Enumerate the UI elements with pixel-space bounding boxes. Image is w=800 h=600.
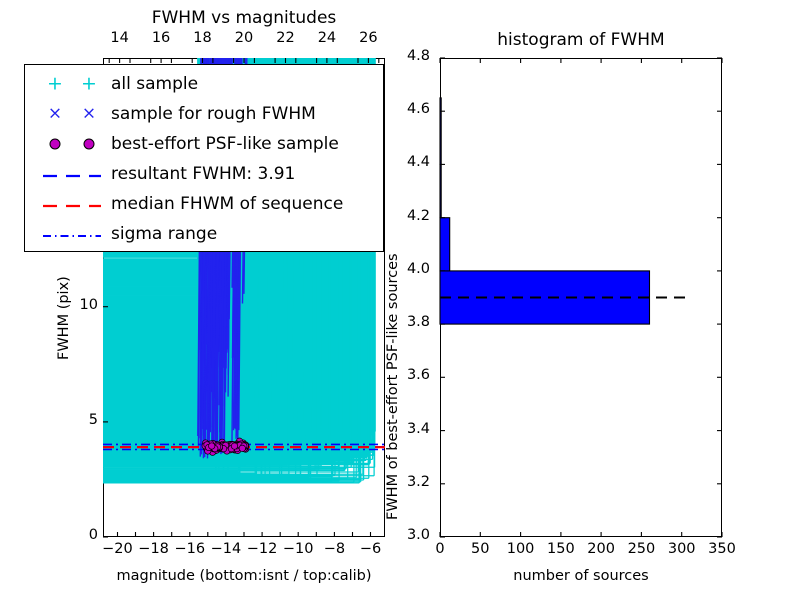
legend-item-label: sigma range: [111, 226, 217, 243]
legend-item-label: resultant FWHM: 3.91: [111, 166, 295, 183]
scatter-xlabel: magnitude (bottom:isnt / top:calib): [63, 568, 425, 584]
legend-item-label: sample for rough FWHM: [111, 106, 316, 123]
x-ticks-right-label: 350: [702, 541, 742, 557]
circle-marker-glyph: [84, 139, 95, 150]
scatter-ylabel: FWHM (pix): [56, 276, 72, 360]
bottom-ticks-label: −14: [206, 541, 246, 557]
histogram-ylabel: FWHM of best-effort PSF-like sources: [385, 253, 401, 520]
plus-marker-glyph: +: [47, 75, 63, 94]
legend-item-label: all sample: [111, 76, 198, 93]
legend-item[interactable]: ××sample for rough FWHM: [33, 99, 316, 129]
histogram-xlabel: number of sources: [440, 568, 722, 584]
x-ticks-right-label: 100: [501, 541, 541, 557]
y-ticks-right-label: 4.4: [390, 154, 430, 170]
bottom-ticks-label: −6: [351, 541, 391, 557]
cross-marker: ××: [33, 99, 111, 129]
plus-marker: ++: [33, 69, 111, 99]
legend-item[interactable]: best-effort PSF-like sample: [33, 129, 339, 159]
y-ticks-left-label: 0: [58, 527, 98, 543]
bottom-ticks-label: −20: [97, 541, 137, 557]
y-ticks-left-label: 5: [58, 412, 98, 428]
circle-marker-glyph: [50, 139, 61, 150]
legend-item-label: median FHWM of sequence: [111, 196, 343, 213]
y-ticks-right-label: 4.2: [390, 208, 430, 224]
dashed-line: [33, 159, 111, 189]
x-ticks-right-label: 0: [420, 541, 460, 557]
y-ticks-right-label: 4.8: [390, 48, 430, 64]
histogram-panel: histogram of FWHM 3.03.23.43.63.84.04.24…: [400, 0, 800, 600]
bottom-ticks-label: −12: [242, 541, 282, 557]
x-ticks-right-label: 200: [581, 541, 621, 557]
y-ticks-right-label: 4.6: [390, 101, 430, 117]
legend-item[interactable]: sigma range: [33, 219, 217, 249]
figure-canvas: FWHM vs magnitudes 14161820222426 051020…: [0, 0, 800, 600]
x-ticks-right-label: 50: [460, 541, 500, 557]
legend-item[interactable]: ++all sample: [33, 69, 198, 99]
plus-marker-glyph: +: [81, 75, 97, 94]
histogram-data-layer: [400, 0, 800, 600]
cross-marker-glyph: ×: [48, 106, 62, 123]
legend-item-label: best-effort PSF-like sample: [111, 136, 339, 153]
legend-item[interactable]: median FHWM of sequence: [33, 189, 343, 219]
bottom-ticks-label: −10: [278, 541, 318, 557]
bottom-ticks-label: −8: [314, 541, 354, 557]
legend[interactable]: ++all sample××sample for rough FWHMbest-…: [24, 64, 384, 252]
bottom-ticks-label: −16: [170, 541, 210, 557]
x-ticks-right-label: 150: [541, 541, 581, 557]
dashed-line: [33, 189, 111, 219]
legend-item[interactable]: resultant FWHM: 3.91: [33, 159, 295, 189]
circle-marker: [33, 129, 111, 159]
dashdot-line: [33, 219, 111, 249]
bottom-ticks-label: −18: [134, 541, 174, 557]
x-ticks-right-label: 250: [621, 541, 661, 557]
x-ticks-right-label: 300: [662, 541, 702, 557]
cross-marker-glyph: ×: [82, 106, 96, 123]
